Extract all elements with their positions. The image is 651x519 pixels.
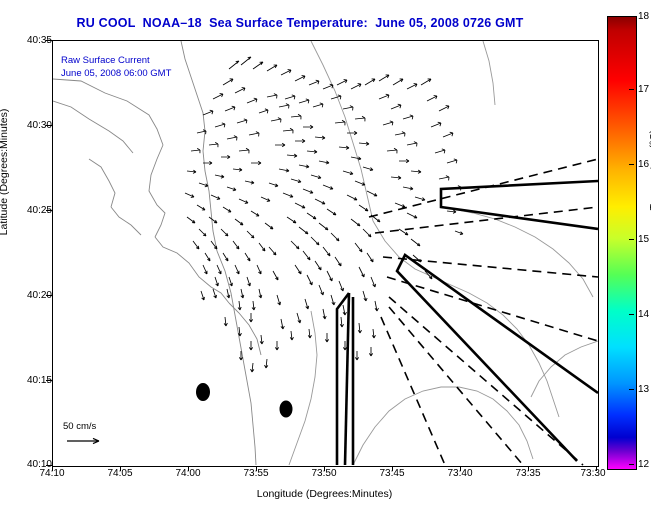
scale-bar-label: 50 cm/s <box>63 421 96 432</box>
station-markers <box>196 383 293 418</box>
bathymetry-contours <box>289 41 598 465</box>
colorbar-tickmark-17 <box>629 89 634 90</box>
annotation-line-1: Raw Surface Current <box>61 55 150 66</box>
colorbar-tick-18: 18 <box>638 11 649 22</box>
scale-reference-arrow <box>67 438 99 443</box>
station-marker-1 <box>196 383 210 401</box>
colorbar-tick-14: 14 <box>638 309 649 320</box>
colorbar-tick-13: 13 <box>638 384 649 395</box>
colorbar-tickmark-12 <box>629 464 634 465</box>
figure-title: RU COOL NOAA–18 Sea Surface Temperature:… <box>0 16 600 30</box>
coastline-layer <box>53 41 261 465</box>
map-graphics <box>53 41 598 466</box>
colorbar-label: Temperature (°C) <box>636 170 651 282</box>
annotation-line-2: June 05, 2008 06:00 GMT <box>61 68 171 79</box>
colorbar-tickmark-16 <box>629 164 634 165</box>
colorbar-tick-12: 12 <box>638 459 649 470</box>
map-plot-area: Raw Surface Current June 05, 2008 06:00 … <box>52 40 599 467</box>
station-marker-2 <box>280 401 293 418</box>
y-axis-ticks: 40:35 40:30 40:25 40:20 40:15 40:10 <box>0 0 52 519</box>
colorbar-tickmark-14 <box>629 314 634 315</box>
colorbar-tickmark-15 <box>629 239 634 240</box>
surface-current-vectors <box>185 57 463 372</box>
shipping-lane-solid <box>337 181 598 465</box>
x-axis-label: Longitude (Degrees:Minutes) <box>52 488 597 500</box>
sst-map-figure: RU COOL NOAA–18 Sea Surface Temperature:… <box>0 0 651 519</box>
colorbar-tickmark-13 <box>629 389 634 390</box>
colorbar-tickmark-18 <box>629 16 634 17</box>
